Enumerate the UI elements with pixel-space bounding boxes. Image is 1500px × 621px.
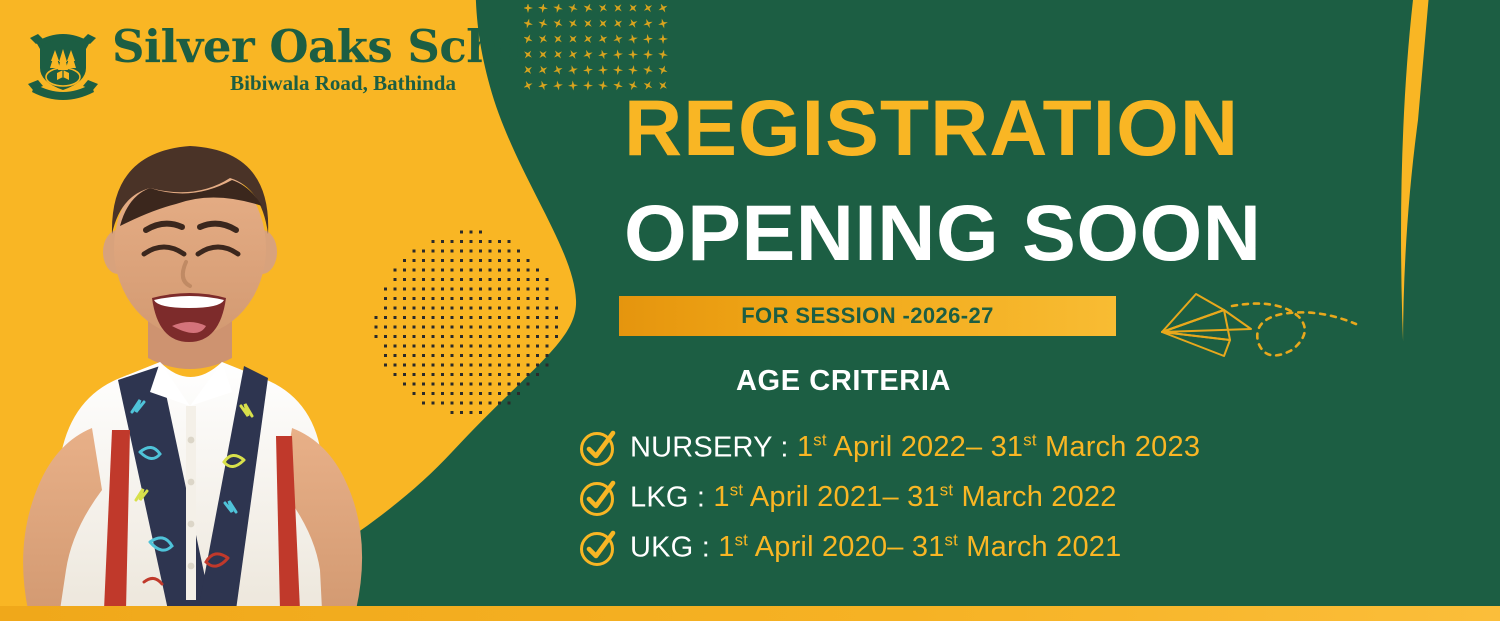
age-criteria-list: NURSERY : 1st April 2022– 31st March 202… (578, 424, 1358, 574)
check-circle-icon (578, 428, 618, 468)
list-item: UKG : 1st April 2020– 31st March 2021 (578, 524, 1358, 571)
session-banner: FOR SESSION -2026-27 (619, 296, 1116, 336)
school-address: Bibiwala Road, Bathinda (112, 71, 574, 96)
school-crest-icon (22, 22, 104, 102)
check-circle-icon (578, 478, 618, 518)
criteria-text-ukg: UKG : 1st April 2020– 31st March 2021 (630, 531, 1121, 565)
age-criteria-heading: AGE CRITERIA (736, 365, 951, 398)
criteria-text-nursery: NURSERY : 1st April 2022– 31st March 202… (630, 431, 1200, 465)
headline-opening-soon: OPENING SOON (624, 193, 1261, 272)
list-item: LKG : 1st April 2021– 31st March 2022 (578, 474, 1358, 521)
dot-circle-pattern-icon (372, 228, 562, 418)
school-logo: Silver Oaks School Bibiwala Road, Bathin… (22, 22, 512, 107)
registration-banner: Silver Oaks School Bibiwala Road, Bathin… (0, 0, 1500, 621)
bottom-accent-strip (0, 606, 1500, 621)
paper-plane-icon (1158, 282, 1358, 366)
check-circle-icon (578, 528, 618, 568)
criteria-text-lkg: LKG : 1st April 2021– 31st March 2022 (630, 481, 1117, 515)
headline-registration: REGISTRATION (624, 88, 1239, 167)
school-name: Silver Oaks School (112, 24, 574, 70)
list-item: NURSERY : 1st April 2022– 31st March 202… (578, 424, 1358, 471)
session-label: FOR SESSION -2026-27 (741, 303, 994, 329)
